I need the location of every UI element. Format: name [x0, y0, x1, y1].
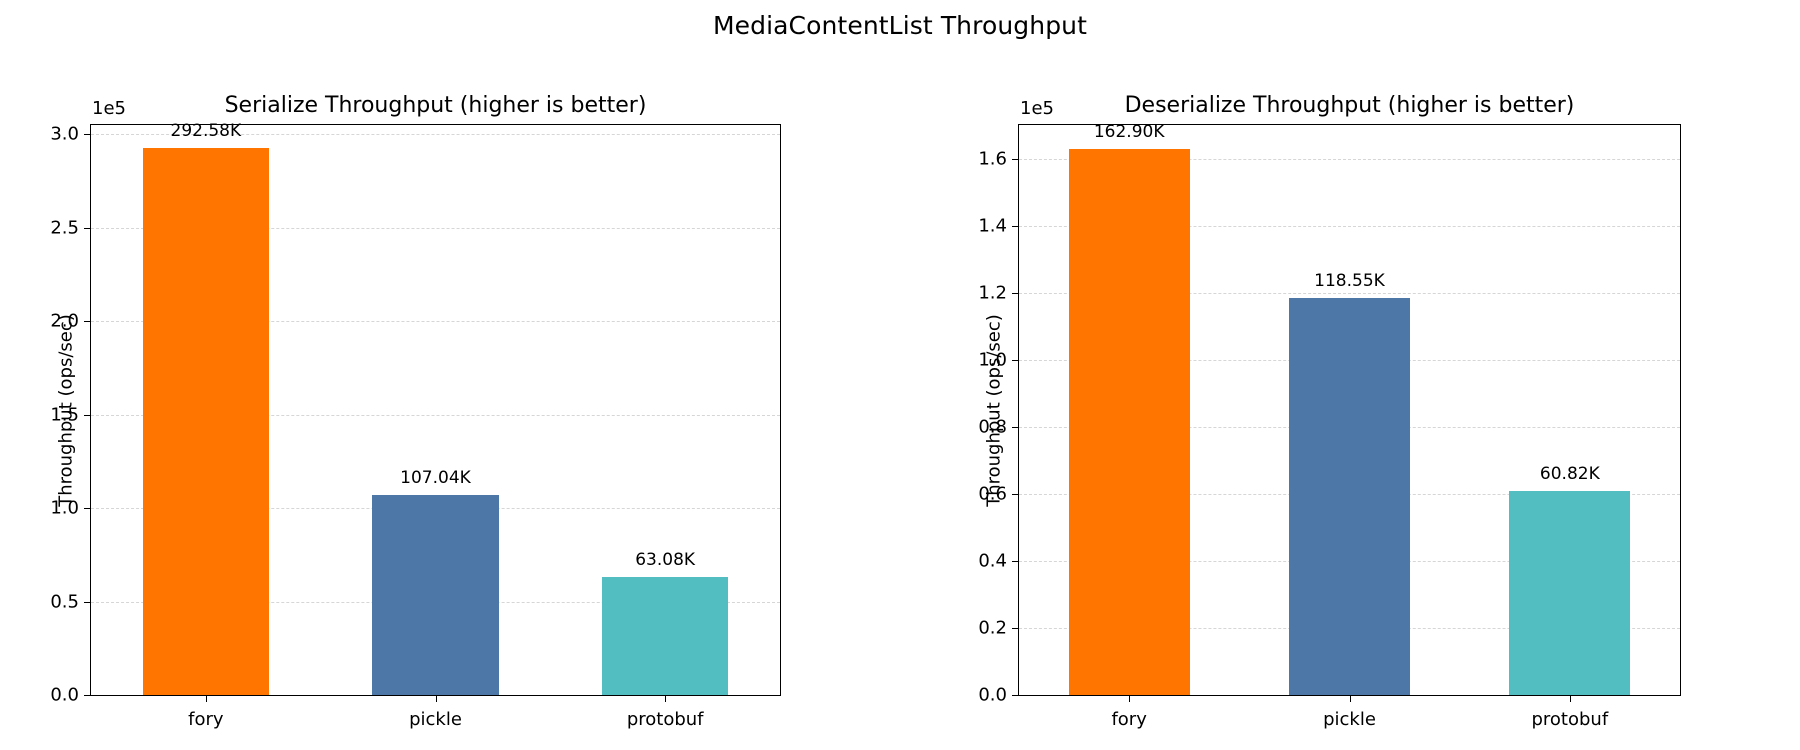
y-axis-tick-label: 1.0 [978, 349, 1007, 370]
y-axis-tick-label: 0.4 [978, 550, 1007, 571]
y-axis-tick-label: 0.5 [50, 591, 79, 612]
y-axis-tick-label: 1.5 [50, 404, 79, 425]
y-axis-tick-label: 1.6 [978, 148, 1007, 169]
y-axis-tick-label: 0.0 [978, 685, 1007, 706]
y-axis-tick [84, 508, 91, 509]
bar-value-label-fory: 162.90K [1094, 122, 1165, 142]
y-axis-tick [84, 321, 91, 322]
bar-protobuf[interactable] [602, 577, 728, 695]
y-axis-tick-label: 3.0 [50, 124, 79, 145]
bar-value-label-protobuf: 63.08K [635, 550, 695, 570]
x-axis-tick-label-fory: fory [1111, 709, 1146, 730]
figure-canvas: MediaContentList Throughput Serialize Th… [0, 0, 1800, 750]
x-axis-tick-label-protobuf: protobuf [627, 709, 704, 730]
x-axis-tick [1129, 695, 1130, 702]
x-axis-tick [206, 695, 207, 702]
y-axis-tick [1012, 226, 1019, 227]
y-axis-tick [1012, 695, 1019, 696]
x-axis-tick-label-pickle: pickle [1323, 709, 1376, 730]
plot-area-deserialize: 0.00.20.40.60.81.01.21.41.6162.90Kfory11… [1018, 124, 1681, 696]
x-axis-tick-label-fory: fory [188, 709, 223, 730]
y-axis-tick-label: 1.0 [50, 498, 79, 519]
subplot-deserialize: Deserialize Throughput (higher is better… [900, 0, 1800, 750]
y-axis-tick-label: 1.2 [978, 282, 1007, 303]
y-axis-tick [84, 602, 91, 603]
x-axis-tick [1350, 695, 1351, 702]
plot-area-serialize: 0.00.51.01.52.02.53.0292.58Kfory107.04Kp… [90, 124, 781, 696]
y-axis-tick [1012, 494, 1019, 495]
y-axis-tick [84, 415, 91, 416]
y-axis-tick [84, 134, 91, 135]
x-axis-tick-label-pickle: pickle [409, 709, 462, 730]
bar-pickle[interactable] [372, 495, 498, 695]
y-axis-tick [1012, 293, 1019, 294]
y-axis-tick-label: 0.6 [978, 483, 1007, 504]
bar-protobuf[interactable] [1509, 491, 1630, 695]
y-axis-tick [1012, 628, 1019, 629]
bar-fory[interactable] [143, 148, 269, 695]
subplot-title-serialize: Serialize Throughput (higher is better) [90, 93, 781, 118]
bar-fory[interactable] [1069, 149, 1190, 695]
bar-value-label-pickle: 118.55K [1314, 271, 1385, 291]
y-axis-exponent-deserialize: 1e5 [1020, 98, 1054, 119]
x-axis-tick-label-protobuf: protobuf [1531, 709, 1608, 730]
y-axis-tick-label: 0.8 [978, 416, 1007, 437]
y-axis-tick [84, 228, 91, 229]
x-axis-tick [665, 695, 666, 702]
y-axis-tick-label: 2.5 [50, 217, 79, 238]
bar-value-label-fory: 292.58K [171, 121, 242, 141]
x-axis-tick [1570, 695, 1571, 702]
bar-value-label-pickle: 107.04K [400, 468, 471, 488]
y-axis-exponent-serialize: 1e5 [92, 98, 126, 119]
bar-value-label-protobuf: 60.82K [1540, 464, 1600, 484]
x-axis-tick [436, 695, 437, 702]
bar-pickle[interactable] [1289, 298, 1410, 695]
y-axis-tick-label: 0.0 [50, 685, 79, 706]
y-axis-label-deserialize: Throughput (ops/sec) [984, 261, 1005, 561]
y-axis-tick-label: 0.2 [978, 617, 1007, 638]
y-axis-tick [1012, 561, 1019, 562]
subplot-title-deserialize: Deserialize Throughput (higher is better… [1018, 93, 1681, 118]
y-axis-tick-label: 1.4 [978, 215, 1007, 236]
y-axis-tick [1012, 427, 1019, 428]
y-axis-tick-label: 2.0 [50, 311, 79, 332]
y-axis-tick [1012, 360, 1019, 361]
y-axis-tick [84, 695, 91, 696]
subplot-serialize: Serialize Throughput (higher is better) … [0, 0, 900, 750]
y-axis-tick [1012, 159, 1019, 160]
